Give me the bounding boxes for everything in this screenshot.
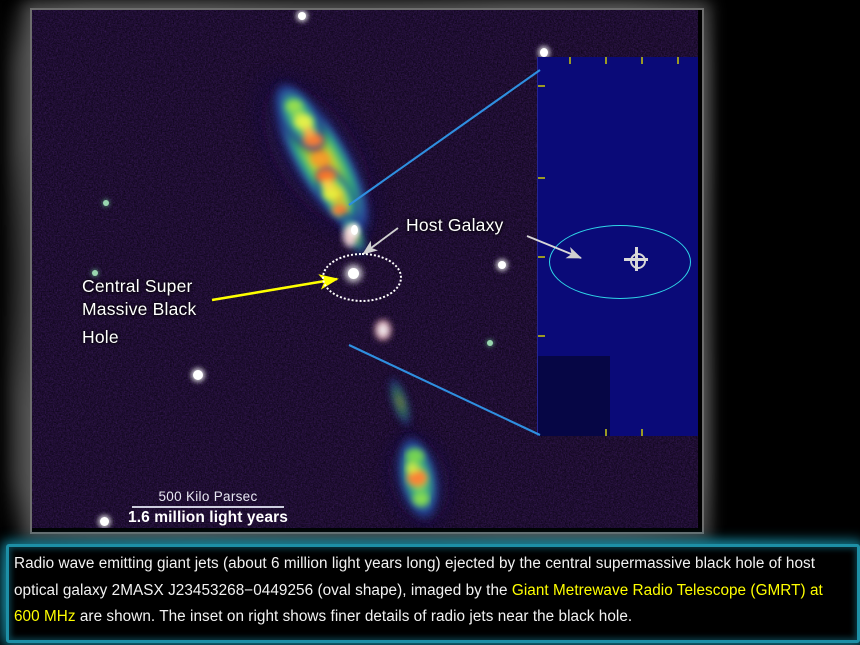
caption-text: Radio wave emitting giant jets (about 6 … xyxy=(14,551,848,631)
inset-tick-bottom xyxy=(641,429,643,436)
inset-dark-patch xyxy=(538,356,610,436)
scale-bar-bottom-label: 1.6 million light years xyxy=(128,509,288,527)
black-hole-label-line1: Central Super xyxy=(82,275,193,298)
point-source xyxy=(100,517,109,526)
black-hole-point-source xyxy=(348,268,359,279)
point-source xyxy=(540,48,548,57)
point-source xyxy=(193,370,203,380)
black-hole-crosshair-marker xyxy=(624,247,648,271)
scale-bar-line xyxy=(132,506,284,508)
black-hole-label-line3: Hole xyxy=(82,326,119,349)
inset-tick-left xyxy=(538,335,545,337)
inset-tick-top xyxy=(677,57,679,64)
point-source xyxy=(351,225,358,235)
point-source xyxy=(498,261,506,269)
caption-segment-3: are shown. The inset on right shows fine… xyxy=(76,608,633,625)
point-source-faint xyxy=(103,200,109,206)
scale-bar: 500 Kilo Parsec 1.6 million light years xyxy=(128,489,288,527)
scale-bar-top-label: 500 Kilo Parsec xyxy=(128,489,288,504)
figure-root: Host Galaxy Central Super Massive Black … xyxy=(0,0,860,645)
black-hole-label-line2: Massive Black xyxy=(82,298,196,321)
inset-tick-left xyxy=(538,256,545,258)
host-galaxy-label: Host Galaxy xyxy=(406,214,504,237)
inset-host-galaxy-oval xyxy=(549,225,691,299)
point-source xyxy=(298,12,306,20)
inset-tick-top xyxy=(605,57,607,64)
point-source-faint xyxy=(487,340,493,346)
host-galaxy-dotted-ellipse xyxy=(322,253,402,302)
inset-tick-bottom xyxy=(605,429,607,436)
caption-segment-1: −0449256 (oval shape), imaged by the xyxy=(244,582,512,599)
radio-jet-closeup-inset xyxy=(537,57,698,436)
inset-tick-left xyxy=(538,85,545,87)
inset-tick-top xyxy=(569,57,571,64)
inset-tick-top xyxy=(641,57,643,64)
inset-tick-left xyxy=(538,177,545,179)
